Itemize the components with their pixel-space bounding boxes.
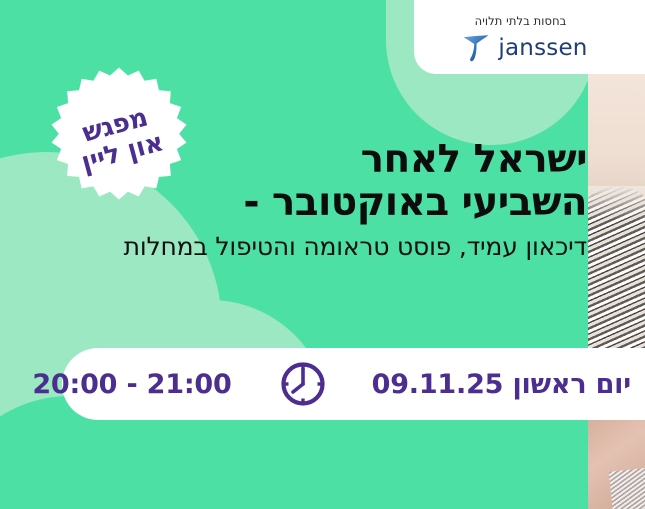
event-time: 20:00 - 21:00 (32, 369, 231, 400)
event-poster: בחסות בלתי תלויה janssen מפגש און ליין (0, 0, 645, 509)
janssen-swoosh-icon (461, 33, 491, 63)
sponsor-kicker: בחסות בלתי תלויה (475, 14, 567, 28)
photo-strip (587, 0, 645, 509)
headline-line-1: ישראל לאחר (361, 137, 587, 182)
sponsor-card: בחסות בלתי תלויה janssen (414, 0, 645, 74)
janssen-logo: janssen (461, 33, 587, 63)
clock-icon (278, 359, 328, 409)
event-info-bar: יום ראשון 09.11.25 20:00 - 21:00 (62, 348, 645, 420)
online-meeting-badge: מפגש און ליין (45, 66, 193, 214)
event-date: יום ראשון 09.11.25 (372, 369, 631, 400)
starburst-shape-icon (45, 66, 193, 214)
janssen-wordmark: janssen (498, 35, 587, 61)
headline-line-2: השביעי באוקטובר - (243, 180, 587, 225)
headline-subtitle: דיכאון עמיד, פוסט טראומה והטיפול במחלות (27, 232, 587, 262)
